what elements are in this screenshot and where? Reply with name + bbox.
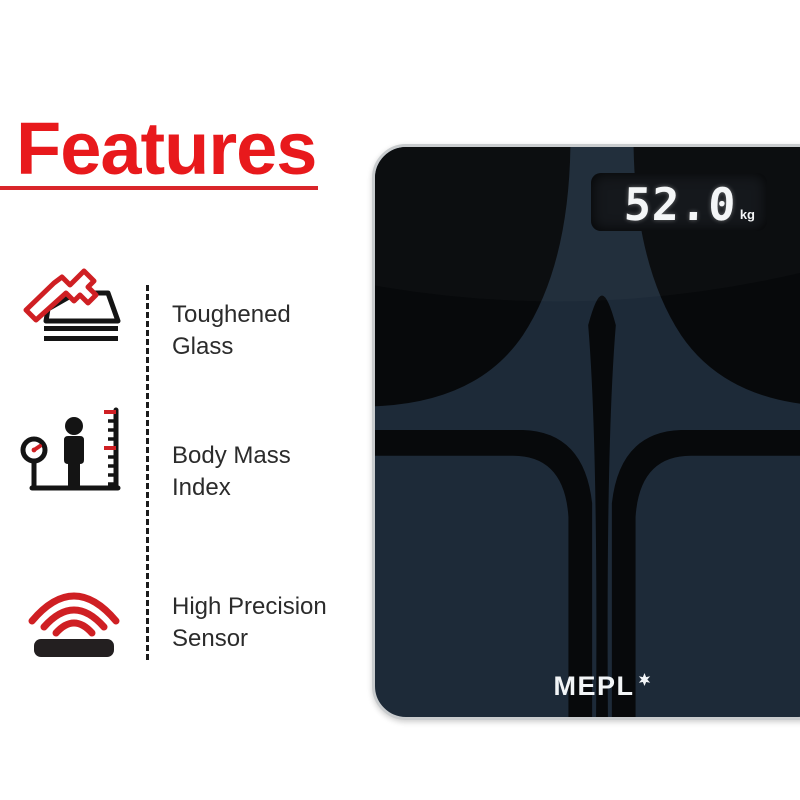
page-title: Features [0, 112, 400, 186]
feature-label-body-mass-index: Body Mass Index [172, 440, 372, 503]
title-underline [0, 186, 318, 190]
toughened-glass-hammer-icon [18, 255, 130, 351]
title-block: Features [0, 112, 400, 186]
feature-label-line-2: Index [172, 472, 372, 504]
feature-item-high-precision-sensor: High Precision Sensor [0, 565, 370, 675]
feature-label-line-2: Sensor [172, 623, 372, 655]
lcd-display-panel: 52.0 kg [591, 173, 767, 231]
feature-label-line-1: High Precision [172, 591, 372, 623]
leaf-icon [638, 673, 651, 686]
feature-label-line-1: Toughened [172, 299, 372, 331]
brand-logo: MEPL [375, 671, 800, 702]
feature-label-line-2: Glass [172, 331, 372, 363]
feature-label-toughened-glass: Toughened Glass [172, 299, 372, 362]
features-product-banner: Features Toughened Glass [0, 0, 800, 800]
feature-item-body-mass-index: Body Mass Index [0, 402, 370, 512]
weight-value: 52.0 [624, 184, 738, 225]
digital-bathroom-scale: 52.0 kg MEPL [372, 144, 800, 720]
weight-unit: kg [740, 208, 755, 221]
scale-surface-artwork [375, 147, 800, 717]
feature-item-toughened-glass: Toughened Glass [0, 255, 370, 365]
feature-label-line-1: Body Mass [172, 440, 372, 472]
lcd-display-inner: 52.0 kg [591, 173, 767, 231]
feature-label-high-precision-sensor: High Precision Sensor [172, 591, 372, 654]
high-precision-sensor-signal-icon [18, 565, 130, 661]
brand-name: MEPL [553, 671, 634, 702]
body-mass-index-person-scale-icon [18, 402, 130, 498]
